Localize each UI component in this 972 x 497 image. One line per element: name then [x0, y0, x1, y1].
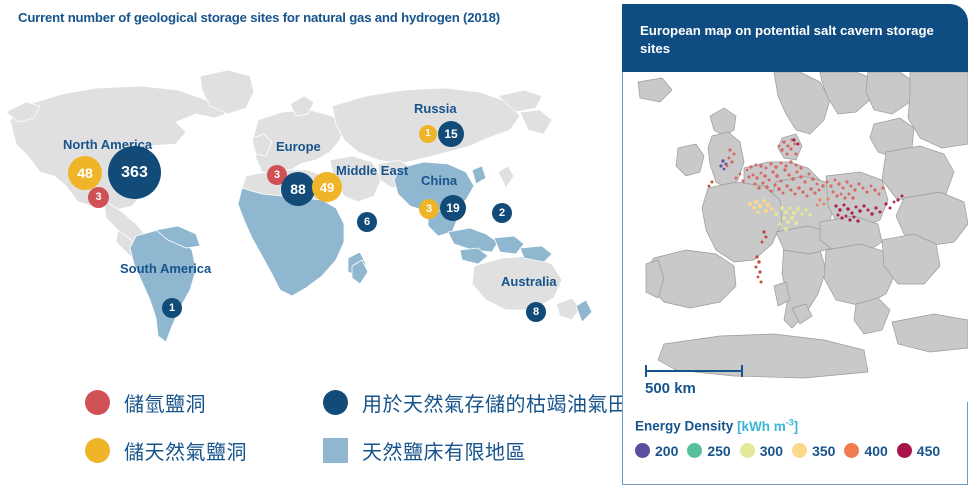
- scale-bar-label: 500 km: [645, 380, 696, 397]
- page-title: Current number of geological storage sit…: [18, 10, 598, 25]
- energy-density-title-text: Energy Density: [635, 419, 733, 434]
- legend-label-hydrogen-salt-cavern: 儲氫鹽洞: [124, 388, 206, 417]
- bubble-europe-depleted-field: 88: [281, 172, 315, 206]
- energy-density-legend: Energy Density [kWh m-3] 200 250 300: [635, 417, 965, 459]
- energy-density-swatch-400: [844, 443, 859, 458]
- legend-label-limited-salt-beds: 天然鹽床有限地區: [362, 436, 526, 465]
- legend-item-depleted-gas-field: 用於天然氣存儲的枯竭油氣田: [323, 388, 629, 417]
- scale-bar-cap-right: [741, 365, 743, 377]
- energy-density-item: 250: [687, 443, 730, 459]
- energy-density-item: 300: [740, 443, 783, 459]
- energy-density-value-350: 350: [812, 443, 835, 459]
- bubble-russia-depleted-field: 15: [438, 121, 464, 147]
- energy-density-value-300: 300: [760, 443, 783, 459]
- energy-density-item: 200: [635, 443, 678, 459]
- bubble-north-america-hydrogen: 3: [88, 187, 109, 208]
- legend-label-gas-salt-cavern: 儲天然氣鹽洞: [124, 436, 247, 465]
- energy-density-value-450: 450: [917, 443, 940, 459]
- scale-bar-line: [645, 370, 743, 372]
- europe-map-svg: [624, 72, 968, 402]
- bubble-south-america-depleted-field: 1: [162, 298, 182, 318]
- energy-density-value-400: 400: [864, 443, 887, 459]
- energy-density-swatch-450: [897, 443, 912, 458]
- energy-density-items: 200 250 300 350 400: [635, 443, 965, 459]
- legend-swatch-gas-salt-cavern: [85, 438, 110, 463]
- region-label-south-america: South America: [120, 262, 211, 276]
- bubble-japan-depleted-field: 2: [492, 203, 512, 223]
- energy-density-item: 350: [792, 443, 835, 459]
- bubble-australia-depleted-field: 8: [526, 302, 546, 322]
- bubble-china-depleted-field: 19: [440, 195, 466, 221]
- bubble-russia-salt-gas: 1: [419, 125, 437, 143]
- panel-title: European map on potential salt cavern st…: [640, 22, 940, 58]
- world-map-svg: [0, 60, 612, 380]
- region-label-australia: Australia: [501, 275, 557, 289]
- region-label-china: China: [421, 174, 457, 188]
- bubble-china-salt-gas: 3: [419, 199, 439, 219]
- legend-item-hydrogen-salt-cavern: 儲氫鹽洞: [85, 388, 206, 417]
- scale-bar: 500 km: [645, 362, 805, 410]
- energy-density-unit: [kWh m-3]: [737, 419, 798, 434]
- energy-density-title: Energy Density [kWh m-3]: [635, 417, 965, 434]
- region-label-russia: Russia: [414, 102, 457, 116]
- energy-density-swatch-200: [635, 443, 650, 458]
- europe-map: [624, 72, 968, 402]
- energy-density-item: 400: [844, 443, 887, 459]
- legend-swatch-hydrogen-salt-cavern: [85, 390, 110, 415]
- panel-body: 500 km Energy Density [kWh m-3] 200 250: [622, 72, 968, 485]
- bubble-europe-salt-gas: 49: [312, 172, 342, 202]
- europe-salt-cavern-panel: European map on potential salt cavern st…: [622, 4, 968, 493]
- legend-label-depleted-gas-field: 用於天然氣存儲的枯竭油氣田: [362, 388, 629, 417]
- bubble-north-america-depleted-field: 363: [108, 146, 161, 199]
- energy-density-swatch-350: [792, 443, 807, 458]
- scale-bar-cap-left: [645, 365, 647, 377]
- legend-swatch-limited-salt-beds: [323, 438, 348, 463]
- map-legend: 儲氫鹽洞 用於天然氣存儲的枯竭油氣田 儲天然氣鹽洞 天然鹽床有限地區: [85, 388, 605, 488]
- region-label-middle-east: Middle East: [336, 164, 388, 178]
- legend-item-limited-salt-beds: 天然鹽床有限地區: [323, 436, 526, 465]
- world-map: North America South America Europe Middl…: [0, 60, 612, 380]
- legend-item-gas-salt-cavern: 儲天然氣鹽洞: [85, 436, 247, 465]
- panel-header: European map on potential salt cavern st…: [622, 4, 968, 72]
- energy-density-swatch-300: [740, 443, 755, 458]
- energy-density-value-250: 250: [707, 443, 730, 459]
- energy-density-value-200: 200: [655, 443, 678, 459]
- bubble-middle-east-depleted-field: 6: [357, 212, 377, 232]
- energy-density-swatch-250: [687, 443, 702, 458]
- bubble-north-america-salt-gas: 48: [68, 156, 102, 190]
- region-label-europe: Europe: [276, 140, 321, 154]
- legend-swatch-depleted-gas-field: [323, 390, 348, 415]
- energy-density-item: 450: [897, 443, 940, 459]
- world-map-panel: Current number of geological storage sit…: [0, 0, 612, 497]
